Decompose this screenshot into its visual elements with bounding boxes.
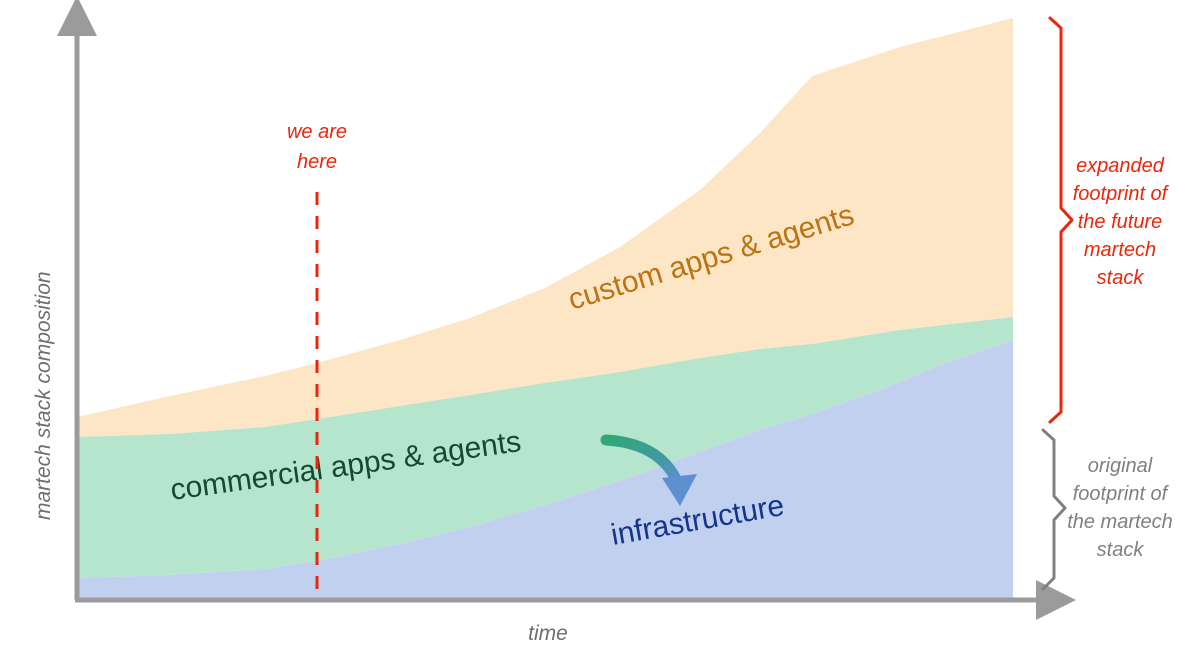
x-axis-label: time [528,622,568,645]
expanded-footprint-bracket-icon [1050,18,1072,422]
expanded-footprint-label-line5: stack [1097,267,1145,289]
original-footprint-label-line1: original [1088,455,1153,477]
y-axis-label: martech stack composition [32,271,55,520]
original-footprint-label-line4: stack [1097,539,1145,561]
chart-canvas: martech stack composition time custom ap… [0,0,1200,666]
expanded-footprint-label-line1: expanded [1076,155,1165,177]
we-are-here-label-line2: here [297,151,337,173]
original-footprint-label-line2: footprint of [1073,483,1170,505]
stacked-area-chart: martech stack composition time custom ap… [0,0,1200,666]
expanded-footprint-label-line2: footprint of [1073,183,1170,205]
expanded-footprint-label-line4: martech [1084,239,1156,261]
original-footprint-label-line3: the martech [1067,511,1173,533]
expanded-footprint-label-line3: the future [1078,211,1163,233]
we-are-here-label-line1: we are [287,121,347,143]
original-footprint-bracket-icon [1043,430,1065,589]
